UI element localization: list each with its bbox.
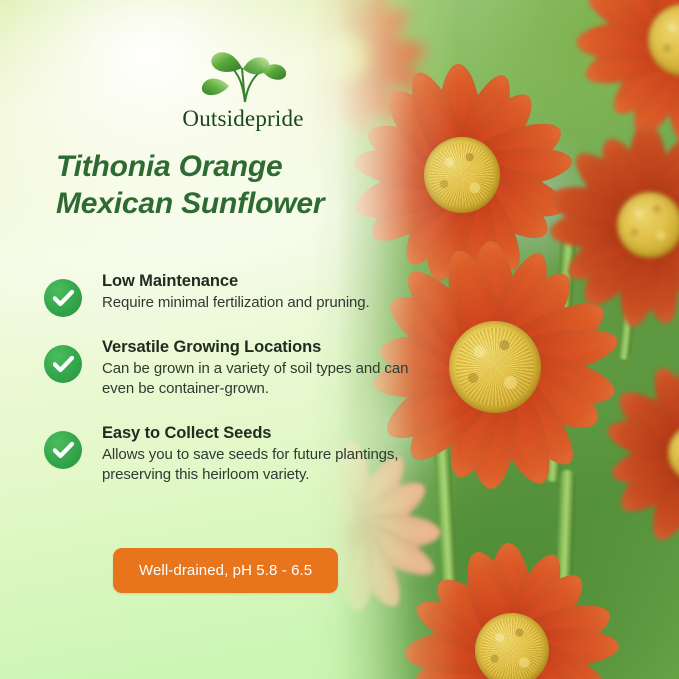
flower-center-disc	[424, 137, 500, 213]
feature-description: Require minimal fertilization and prunin…	[102, 293, 434, 313]
page-title: Tithonia Orange Mexican Sunflower	[56, 148, 406, 222]
soil-requirement-badge: Well-drained, pH 5.8 - 6.5	[113, 548, 338, 593]
brand-wordmark: Outsidepride	[168, 106, 318, 132]
title-line-1: Tithonia Orange	[56, 148, 406, 185]
flower-petals	[589, 350, 679, 555]
feature-item: Low Maintenance Require minimal fertiliz…	[44, 272, 434, 313]
flower-center-disc	[449, 321, 541, 413]
feature-heading: Versatile Growing Locations	[102, 338, 434, 357]
feature-list: Low Maintenance Require minimal fertiliz…	[44, 272, 434, 510]
check-circle-icon	[44, 279, 82, 317]
product-marketing-card: Outsidepride Tithonia Orange Mexican Sun…	[0, 0, 679, 679]
plant-sprout-icon	[198, 42, 290, 104]
feature-description: Can be grown in a variety of soil types …	[102, 359, 434, 399]
check-circle-icon	[44, 345, 82, 383]
feature-item: Versatile Growing Locations Can be grown…	[44, 338, 434, 399]
flower-center-disc	[475, 613, 549, 679]
feature-heading: Easy to Collect Seeds	[102, 424, 434, 443]
feature-heading: Low Maintenance	[102, 272, 434, 291]
feature-description: Allows you to save seeds for future plan…	[102, 445, 434, 485]
feature-item: Easy to Collect Seeds Allows you to save…	[44, 424, 434, 485]
flower-bloom	[589, 350, 679, 555]
brand-logo: Outsidepride	[168, 42, 318, 132]
check-circle-icon	[44, 431, 82, 469]
title-line-2: Mexican Sunflower	[56, 185, 406, 222]
